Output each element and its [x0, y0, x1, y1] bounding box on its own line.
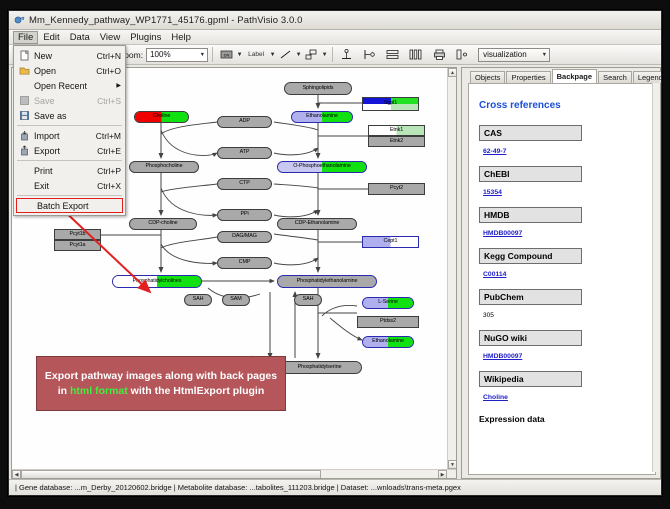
- pathway-node-ethanolamine-top[interactable]: Ethanolamine: [291, 111, 353, 123]
- file-menu-item-label: Open: [34, 66, 90, 76]
- save-as-disk-icon: [18, 110, 31, 122]
- xref-value-row: C00114: [479, 268, 645, 289]
- side-panel-tabstrip: Objects Properties Backpage Search Legen…: [462, 68, 660, 83]
- file-menu-item-label: Export: [34, 146, 91, 156]
- pathway-node-cept1[interactable]: Cept1: [362, 236, 419, 248]
- pathway-node-label: Ethanolamine: [306, 114, 338, 119]
- pathway-node-label: Pcyt2: [390, 186, 403, 191]
- pathway-node-sam-left[interactable]: SAM: [222, 294, 250, 306]
- pathway-node-label: CDP-Ethanolamine: [295, 221, 340, 226]
- xref-header-chebi: ChEBI: [479, 166, 582, 182]
- file-menu-item-export[interactable]: ExportCtrl+E: [14, 143, 125, 158]
- line-tool-button[interactable]: [278, 47, 293, 62]
- xref-value-cas[interactable]: 62-49-7: [483, 148, 506, 155]
- pathway-node-sphingolipids[interactable]: Sphingolipids: [284, 82, 352, 95]
- tab-search[interactable]: Search: [598, 71, 632, 83]
- xref-header-pubchem: PubChem: [479, 289, 582, 305]
- file-menu-item-open-recent[interactable]: Open Recent▶: [14, 78, 125, 93]
- file-menu-separator: [17, 195, 122, 196]
- import-icon: [18, 130, 31, 142]
- cross-references-title: Cross references: [479, 100, 645, 111]
- pathway-node-phosphatidylcholines[interactable]: Phosphatidylcholines: [112, 275, 202, 288]
- pathway-node-sgpl1[interactable]: Sgpl1: [362, 97, 419, 111]
- pathway-node-label: Phosphatidylserine: [298, 365, 342, 370]
- submenu-arrow-icon: ▶: [116, 82, 121, 89]
- expression-data-title: Expression data: [479, 414, 645, 424]
- menu-file[interactable]: File: [13, 31, 38, 44]
- chevron-down-icon: ▼: [542, 52, 547, 58]
- pathway-node-sah-right[interactable]: SAH: [294, 294, 322, 306]
- shape-dropdown-icon[interactable]: ▼: [321, 48, 328, 62]
- pathway-node-label: DAG/MAG: [232, 234, 257, 239]
- pathway-node-adp[interactable]: ADP: [217, 116, 272, 128]
- label-tool-text: Label: [248, 51, 264, 58]
- pathway-node-cmp[interactable]: CMP: [217, 257, 272, 269]
- pathway-node-label: SAM: [230, 297, 241, 302]
- pathway-node-o-phosphoethanolamine[interactable]: O-Phosphoethanolamine: [277, 161, 367, 173]
- file-menu-item-open[interactable]: OpenCtrl+O: [14, 63, 125, 78]
- side-panel: Objects Properties Backpage Search Legen…: [461, 67, 661, 479]
- file-menu-item-label: New: [34, 51, 91, 61]
- xref-header-kegg-compound: Kegg Compound: [479, 248, 582, 264]
- xref-value-row: 15354: [479, 186, 645, 207]
- file-menu-item-label: Open Recent: [34, 81, 112, 91]
- layout-icon[interactable]: [455, 47, 470, 62]
- tab-objects[interactable]: Objects: [470, 71, 505, 83]
- file-menu-item-label: Save as: [34, 111, 121, 121]
- xref-value-pubchem: 305: [483, 312, 494, 319]
- svg-text:DN: DN: [224, 53, 230, 58]
- status-bar-text: | Gene database: ...m_Derby_20120602.bri…: [15, 483, 461, 492]
- file-menu-item-label: Save: [34, 96, 91, 106]
- file-menu-item-save-as[interactable]: Save as: [14, 108, 125, 123]
- stack-icon[interactable]: [385, 47, 400, 62]
- pathway-node-etnk2[interactable]: Etnk2: [368, 136, 425, 147]
- file-menu-item-accelerator: Ctrl+E: [97, 146, 121, 156]
- pathway-node-label: CTP: [239, 181, 249, 186]
- toolbar-separator: [212, 47, 213, 62]
- pathway-node-label: PPi: [240, 212, 248, 217]
- pathway-node-phosphatidylserine[interactable]: Phosphatidylserine: [277, 361, 362, 374]
- print-icon[interactable]: [432, 47, 447, 62]
- save-disk-icon: [18, 95, 31, 107]
- window-title: Mm_Kennedy_pathway_WP1771_45176.gpml - P…: [29, 15, 303, 26]
- cross-reference-list: CAS62-49-7ChEBI15354HMDBHMDB00097Kegg Co…: [479, 125, 645, 412]
- pathway-node-label: Phosphatidylethanolamine: [297, 279, 358, 284]
- pathway-node-label: Sgpl1: [384, 101, 397, 106]
- menu-plugins[interactable]: Plugins: [125, 31, 166, 44]
- pathway-node-label: Phosphocholine: [146, 164, 183, 169]
- pathway-node-label: Etnk1: [390, 128, 403, 133]
- xref-header-nugo-wiki: NuGO wiki: [479, 330, 582, 346]
- file-menu-item-new[interactable]: NewCtrl+N: [14, 48, 125, 63]
- pathway-node-ptdss2[interactable]: Ptdss2: [357, 316, 419, 328]
- file-menu-item-label: Print: [34, 166, 91, 176]
- file-menu-items: NewCtrl+NOpenCtrl+OOpen Recent▶SaveCtrl+…: [14, 48, 125, 213]
- menu-bar: File Edit Data View Plugins Help: [9, 30, 662, 45]
- pathway-node-dag[interactable]: DAG/MAG: [217, 231, 272, 243]
- pathway-node-pcyt1a[interactable]: Pcyt1a: [54, 240, 101, 251]
- xref-header-wikipedia: Wikipedia: [479, 371, 582, 387]
- scroll-down-arrow[interactable]: ▼: [448, 460, 457, 469]
- file-menu-item-accelerator: Ctrl+P: [97, 166, 121, 176]
- file-menu-dropdown[interactable]: NewCtrl+NOpenCtrl+OOpen Recent▶SaveCtrl+…: [13, 45, 126, 216]
- callout-highlight: html format: [70, 385, 128, 397]
- pathway-node-atp[interactable]: ATP: [217, 147, 272, 159]
- file-menu-item-print[interactable]: PrintCtrl+P: [14, 163, 125, 178]
- file-menu-item-exit[interactable]: ExitCtrl+X: [14, 178, 125, 193]
- xref-value-row: 305: [479, 309, 645, 330]
- file-menu-item-batch-export[interactable]: Batch Export: [16, 198, 123, 213]
- title-bar: Mm_Kennedy_pathway_WP1771_45176.gpml - P…: [9, 11, 662, 30]
- tab-backpage[interactable]: Backpage: [552, 69, 597, 83]
- datanode-tool-button[interactable]: DN: [219, 47, 234, 62]
- xref-value-row: HMDB00097: [479, 227, 645, 248]
- pathway-node-sah-left[interactable]: SAH: [184, 294, 212, 306]
- file-menu-item-save: SaveCtrl+S: [14, 93, 125, 108]
- pathway-node-label: Cept1: [384, 239, 398, 244]
- pathway-node-phosphatidylethanolamine[interactable]: Phosphatidylethanolamine: [277, 275, 377, 288]
- tab-legend[interactable]: Legend: [633, 71, 662, 83]
- file-menu-item-label: Exit: [34, 181, 91, 191]
- file-menu-item-accelerator: Ctrl+X: [97, 181, 121, 191]
- pathway-node-label: Etnk2: [390, 139, 403, 144]
- pathway-node-label: Choline: [153, 114, 171, 119]
- pathway-node-ethanolamine-right[interactable]: Ethanolamine: [362, 336, 414, 348]
- annotation-callout: Export pathway images along with back pa…: [36, 356, 286, 411]
- pathway-node-label: Phosphatidylcholines: [133, 279, 182, 284]
- file-menu-item-label: Import: [34, 131, 90, 141]
- menu-edit[interactable]: Edit: [38, 31, 64, 44]
- visualization-combo[interactable]: visualization ▼: [478, 48, 550, 62]
- xref-value-nugo-wiki[interactable]: HMDB00097: [483, 353, 522, 360]
- pathway-node-label: L-Serine: [378, 300, 398, 305]
- application-window: Mm_Kennedy_pathway_WP1771_45176.gpml - P…: [8, 10, 662, 496]
- pathway-node-label: Pcyt1b: [70, 232, 86, 237]
- scroll-left-arrow[interactable]: ◀: [12, 470, 21, 479]
- pathway-node-l-serine[interactable]: L-Serine: [362, 297, 414, 309]
- file-menu-item-import[interactable]: ImportCtrl+M: [14, 128, 125, 143]
- xref-header-cas: CAS: [479, 125, 582, 141]
- xref-value-chebi[interactable]: 15354: [483, 189, 502, 196]
- no-icon: [18, 165, 31, 177]
- xref-value-wikipedia[interactable]: Choline: [483, 394, 508, 401]
- export-icon: [18, 145, 31, 157]
- chevron-down-icon: ▼: [200, 52, 205, 58]
- pathway-node-label: ATP: [240, 150, 250, 155]
- pathway-node-cdp-ethanolamine[interactable]: CDP-Ethanolamine: [277, 218, 357, 230]
- pathway-node-cdp-choline[interactable]: CDP-choline: [129, 218, 197, 230]
- status-bar: | Gene database: ...m_Derby_20120602.bri…: [9, 479, 662, 495]
- xref-value-row: 62-49-7: [479, 145, 645, 166]
- columns-icon[interactable]: [408, 47, 423, 62]
- open-folder-icon: [18, 65, 31, 77]
- zoom-combo[interactable]: 100% ▼: [146, 48, 208, 62]
- file-menu-item-accelerator: Ctrl+O: [96, 66, 121, 76]
- file-menu-separator: [17, 125, 122, 126]
- shape-tool-button[interactable]: [304, 47, 319, 62]
- new-file-icon: [18, 50, 31, 62]
- backpage-content: Cross references CAS62-49-7ChEBI15354HMD…: [468, 83, 656, 475]
- menu-data[interactable]: Data: [65, 31, 95, 44]
- file-menu-item-accelerator: Ctrl+S: [97, 96, 121, 106]
- pathway-node-ppi[interactable]: PPi: [217, 209, 272, 221]
- scroll-right-arrow[interactable]: ▶: [438, 470, 447, 479]
- pathvisio-app-icon: [14, 15, 25, 26]
- menu-view[interactable]: View: [95, 31, 125, 44]
- pathway-node-label: Ptdss2: [380, 319, 396, 324]
- pathway-node-label: SAH: [193, 297, 204, 302]
- label-tool-button[interactable]: Label: [245, 47, 267, 62]
- pathway-node-label: ADP: [239, 119, 250, 124]
- pathway-node-label: Sphingolipids: [303, 86, 334, 91]
- label-dropdown-icon[interactable]: ▼: [269, 48, 276, 62]
- scroll-h-thumb[interactable]: [21, 470, 321, 479]
- pathway-node-label: O-Phosphoethanolamine: [293, 164, 351, 169]
- annotation-callout-text: Export pathway images along with back pa…: [37, 369, 285, 397]
- xref-value-row: Choline: [479, 391, 645, 412]
- line-dropdown-icon[interactable]: ▼: [295, 48, 302, 62]
- pathway-node-choline-top[interactable]: Choline: [134, 111, 189, 123]
- no-icon: [18, 80, 31, 92]
- zoom-value: 100%: [150, 50, 170, 59]
- screen-background: Mm_Kennedy_pathway_WP1771_45176.gpml - P…: [0, 0, 670, 509]
- datanode-dropdown-icon[interactable]: ▼: [236, 48, 243, 62]
- no-icon: [18, 180, 31, 192]
- pathway-node-pcyt2[interactable]: Pcyt2: [368, 183, 425, 195]
- callout-text-after: with the HtmlExport plugin: [128, 385, 265, 397]
- align-icon[interactable]: [339, 47, 354, 62]
- file-menu-separator: [17, 160, 122, 161]
- pathway-node-etnk1[interactable]: Etnk1: [368, 125, 425, 136]
- xref-value-hmdb[interactable]: HMDB00097: [483, 230, 522, 237]
- file-menu-item-accelerator: Ctrl+M: [96, 131, 121, 141]
- pathway-node-pcyt1b[interactable]: Pcyt1b: [54, 229, 101, 240]
- xref-value-row: HMDB00097: [479, 350, 645, 371]
- tab-properties[interactable]: Properties: [506, 71, 550, 83]
- pathway-node-label: SAH: [303, 297, 314, 302]
- side-panel-scrollbar[interactable]: [652, 83, 660, 472]
- pathway-node-ctp[interactable]: CTP: [217, 178, 272, 190]
- xref-header-hmdb: HMDB: [479, 207, 582, 223]
- file-menu-item-accelerator: Ctrl+N: [97, 51, 121, 61]
- pathway-node-label: CDP-choline: [148, 221, 177, 226]
- toolbar-separator-2: [332, 47, 333, 62]
- file-menu-item-label: Batch Export: [37, 201, 118, 211]
- no-icon: [21, 200, 34, 212]
- pathway-node-label: Ethanolamine: [372, 339, 404, 344]
- group-icon[interactable]: [362, 47, 377, 62]
- scroll-up-arrow[interactable]: ▲: [448, 68, 457, 77]
- visualization-value: visualization: [483, 50, 527, 59]
- xref-value-kegg-compound[interactable]: C00114: [483, 271, 506, 278]
- pathway-node-label: Pcyt1a: [70, 243, 86, 248]
- pathway-node-label: CMP: [239, 260, 251, 265]
- menu-help[interactable]: Help: [166, 31, 196, 44]
- pathway-node-phosphocholine[interactable]: Phosphocholine: [129, 161, 199, 173]
